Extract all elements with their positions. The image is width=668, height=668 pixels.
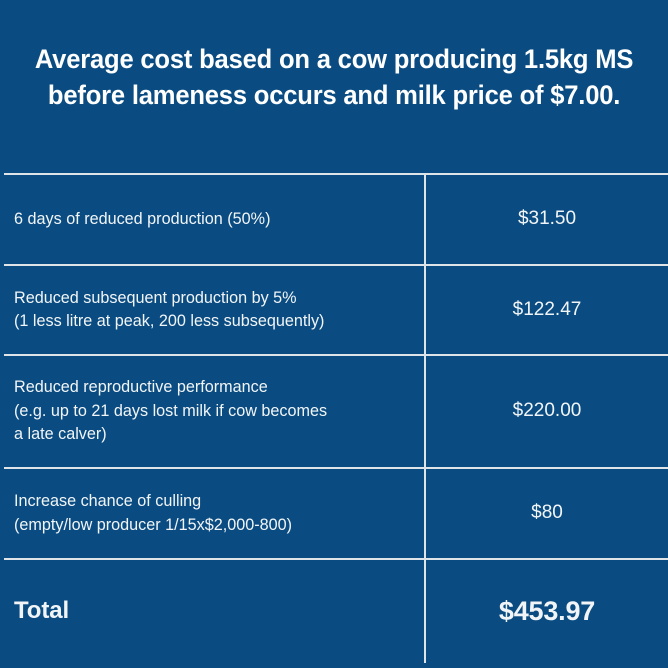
cost-item-value: $122.47 bbox=[436, 298, 658, 323]
total-value: $453.97 bbox=[436, 594, 658, 629]
total-value-cell: $453.97 bbox=[425, 559, 668, 663]
table-row: Reduced subsequent production by 5% (1 l… bbox=[4, 265, 668, 355]
cost-item-label-cell: Reduced reproductive performance (e.g. u… bbox=[4, 355, 425, 468]
slide-title-block: Average cost based on a cow producing 1.… bbox=[0, 0, 668, 173]
cost-item-label-cell: Reduced subsequent production by 5% (1 l… bbox=[4, 265, 425, 355]
cost-item-label-cell: 6 days of reduced production (50%) bbox=[4, 174, 425, 265]
cost-item-value-cell: $80 bbox=[425, 468, 668, 559]
cost-item-value-cell: $31.50 bbox=[425, 174, 668, 265]
cost-item-label-cell: Increase chance of culling (empty/low pr… bbox=[4, 468, 425, 559]
table-total-row: Total $453.97 bbox=[4, 559, 668, 663]
cost-item-label: Reduced subsequent production by 5% (1 l… bbox=[14, 287, 408, 334]
table-row: Increase chance of culling (empty/low pr… bbox=[4, 468, 668, 559]
table-row: Reduced reproductive performance (e.g. u… bbox=[4, 355, 668, 468]
total-label: Total bbox=[14, 594, 408, 629]
cost-item-value: $220.00 bbox=[436, 399, 658, 424]
cost-item-value: $80 bbox=[436, 501, 658, 526]
cost-item-label: Reduced reproductive performance (e.g. u… bbox=[14, 376, 408, 446]
cost-item-label: Increase chance of culling (empty/low pr… bbox=[14, 490, 408, 537]
cost-item-value-cell: $122.47 bbox=[425, 265, 668, 355]
cost-item-value: $31.50 bbox=[436, 207, 658, 232]
total-label-cell: Total bbox=[4, 559, 425, 663]
cost-item-label: 6 days of reduced production (50%) bbox=[14, 208, 408, 231]
page-title: Average cost based on a cow producing 1.… bbox=[35, 42, 633, 113]
cost-breakdown-table: 6 days of reduced production (50%) $31.5… bbox=[4, 173, 668, 663]
cost-breakdown-slide: Average cost based on a cow producing 1.… bbox=[0, 0, 668, 668]
cost-item-value-cell: $220.00 bbox=[425, 355, 668, 468]
table-row: 6 days of reduced production (50%) $31.5… bbox=[4, 174, 668, 265]
table-body: 6 days of reduced production (50%) $31.5… bbox=[4, 174, 668, 663]
